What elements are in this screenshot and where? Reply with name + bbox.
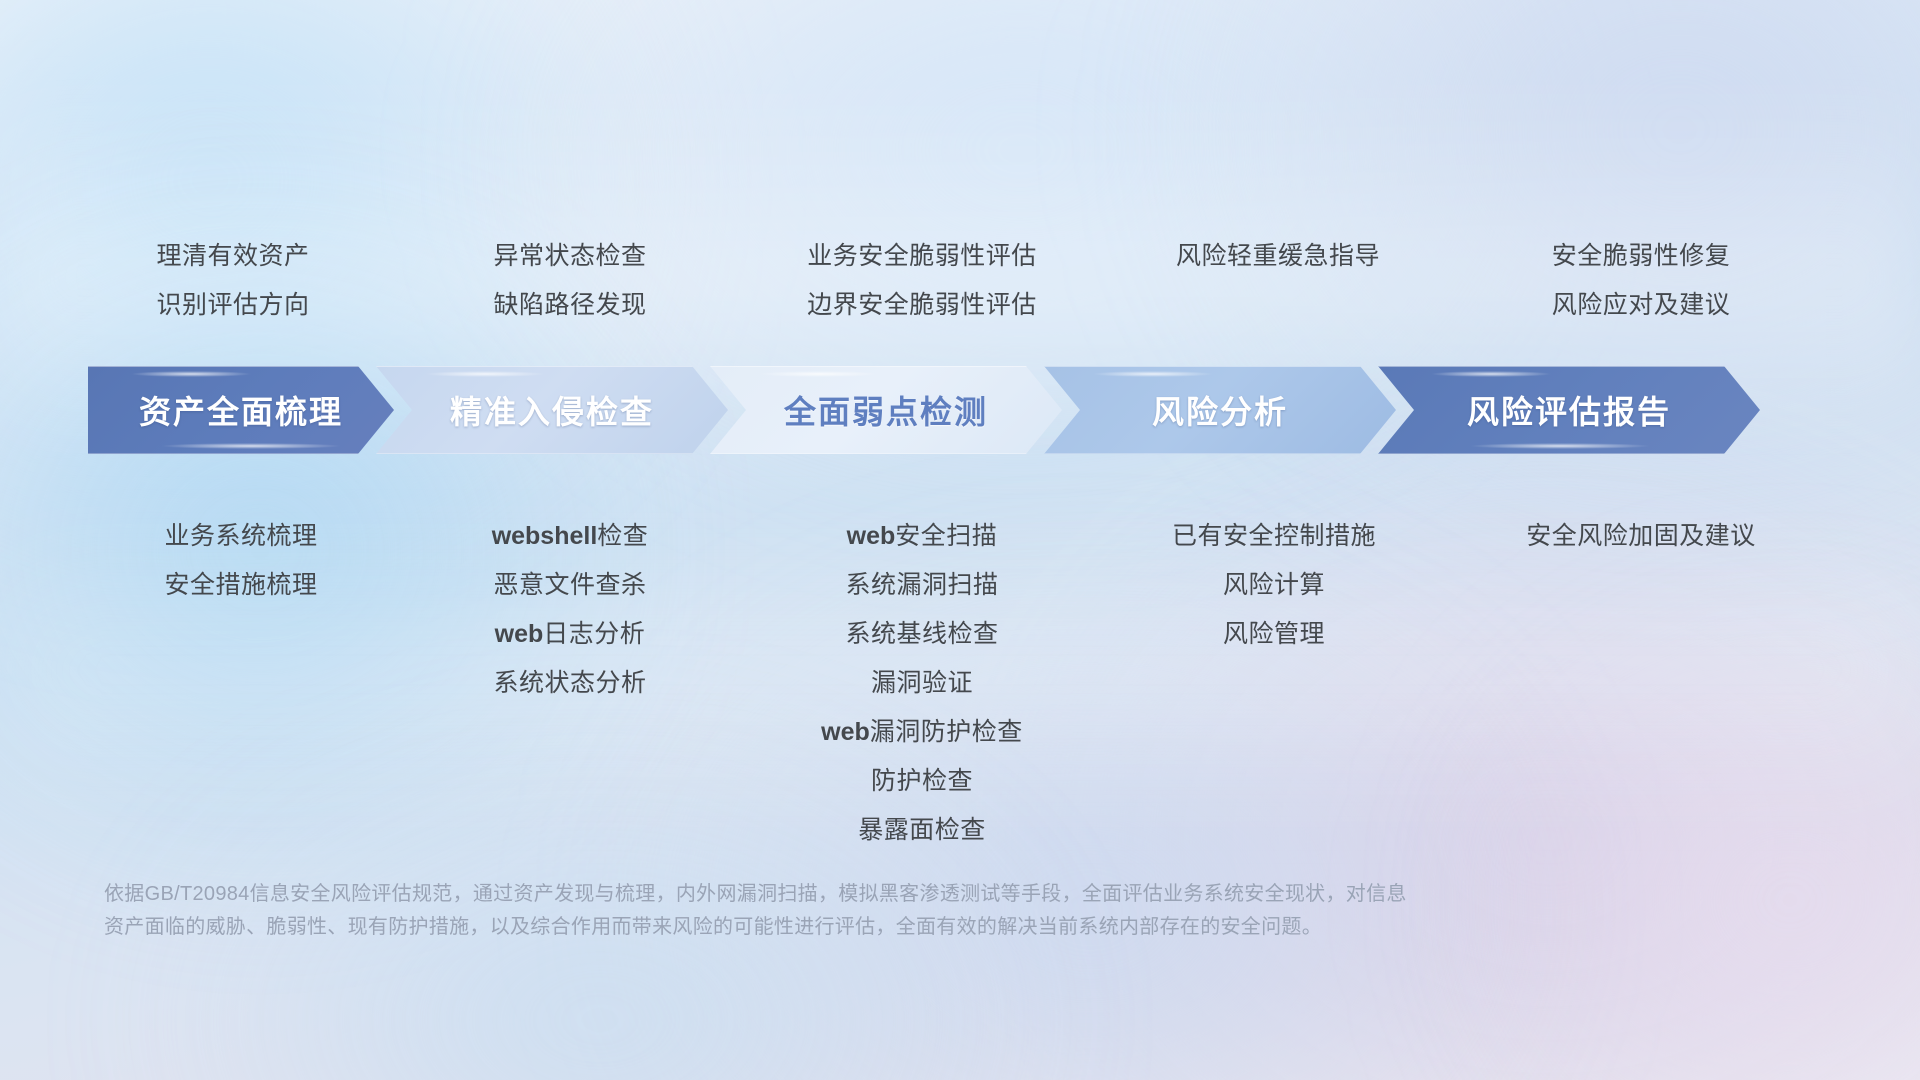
activity-item: 暴露面检查 xyxy=(858,806,986,855)
stage-arrow-band: 资产全面梳理 精准入侵检查 全面弱点检测 风险分析 风险评估报告 xyxy=(88,366,1832,454)
process-diagram: 理清有效资产 识别评估方向 异常状态检查 缺陷路径发现 业务安全脆弱性评估 边界… xyxy=(0,0,1920,1080)
outcome-item: 理清有效资产 xyxy=(156,232,309,281)
activity-item: web漏洞防护检查 xyxy=(821,708,1023,757)
outcome-item: 安全脆弱性修复 xyxy=(1552,232,1731,281)
outcome-item: 边界安全脆弱性评估 xyxy=(807,281,1037,330)
outcomes-column-2: 异常状态检查 缺陷路径发现 xyxy=(394,232,746,330)
activity-item: 系统基线检查 xyxy=(845,610,998,659)
stage-arrow-5[interactable]: 风险评估报告 xyxy=(1378,366,1760,454)
stage-arrow-2[interactable]: 精准入侵检查 xyxy=(376,366,728,454)
activities-column-3: web安全扫描 系统漏洞扫描 系统基线检查 漏洞验证 web漏洞防护检查 防护检… xyxy=(746,512,1098,855)
activity-item: 安全风险加固及建议 xyxy=(1526,512,1756,561)
activity-item: 风险管理 xyxy=(1223,610,1325,659)
activity-item: web安全扫描 xyxy=(847,512,998,561)
sparkle-decoration xyxy=(161,443,341,449)
outcome-item: 风险轻重缓急指导 xyxy=(1176,232,1380,281)
stage-arrow-1[interactable]: 资产全面梳理 xyxy=(88,366,394,454)
outcomes-column-5: 安全脆弱性修复 风险应对及建议 xyxy=(1450,232,1832,330)
activity-item: 风险计算 xyxy=(1223,561,1325,610)
footer-description: 依据GB/T20984信息安全风险评估规范，通过资产发现与梳理，内外网漏洞扫描，… xyxy=(104,878,1624,944)
outcome-item: 业务安全脆弱性评估 xyxy=(807,232,1037,281)
activity-item: 业务系统梳理 xyxy=(164,512,317,561)
sparkle-decoration xyxy=(131,371,251,377)
outcomes-column-3: 业务安全脆弱性评估 边界安全脆弱性评估 xyxy=(746,232,1098,330)
activity-item: webshell检查 xyxy=(492,512,649,561)
activities-column-2: webshell检查 恶意文件查杀 web日志分析 系统状态分析 xyxy=(394,512,746,855)
activity-item: 恶意文件查杀 xyxy=(493,561,646,610)
sparkle-decoration xyxy=(759,371,879,377)
stage-arrow-label: 风险分析 xyxy=(1152,387,1288,433)
stage-activities-row: 业务系统梳理 安全措施梳理 webshell检查 恶意文件查杀 web日志分析 … xyxy=(88,512,1832,855)
activity-item: 防护检查 xyxy=(871,757,973,806)
sparkle-decoration xyxy=(1470,443,1650,449)
activity-item: 安全措施梳理 xyxy=(164,561,317,610)
stage-arrow-label: 风险评估报告 xyxy=(1467,387,1671,433)
outcome-item: 异常状态检查 xyxy=(493,232,646,281)
sparkle-decoration xyxy=(425,371,545,377)
stage-outcomes-row: 理清有效资产 识别评估方向 异常状态检查 缺陷路径发现 业务安全脆弱性评估 边界… xyxy=(88,232,1832,330)
outcomes-column-1: 理清有效资产 识别评估方向 xyxy=(80,232,386,330)
stage-arrow-label: 全面弱点检测 xyxy=(784,387,988,433)
activity-item: 系统状态分析 xyxy=(493,659,646,708)
footer-line-2: 资产面临的威胁、脆弱性、现有防护措施，以及综合作用而带来风险的可能性进行评估，全… xyxy=(104,911,1624,944)
outcome-item: 风险应对及建议 xyxy=(1552,281,1731,330)
stage-arrow-4[interactable]: 风险分析 xyxy=(1044,366,1396,454)
activities-column-4: 已有安全控制措施 风险计算 风险管理 xyxy=(1098,512,1450,855)
stage-arrow-label: 精准入侵检查 xyxy=(450,387,654,433)
activities-column-1: 业务系统梳理 安全措施梳理 xyxy=(88,512,394,855)
sparkle-decoration xyxy=(1093,371,1213,377)
outcome-item: 识别评估方向 xyxy=(156,281,309,330)
activity-item: 系统漏洞扫描 xyxy=(845,561,998,610)
activity-item: web日志分析 xyxy=(495,610,646,659)
stage-arrow-3[interactable]: 全面弱点检测 xyxy=(710,366,1062,454)
outcome-item: 缺陷路径发现 xyxy=(493,281,646,330)
activities-column-5: 安全风险加固及建议 xyxy=(1450,512,1832,855)
outcomes-column-4: 风险轻重缓急指导 xyxy=(1102,232,1454,330)
activity-item: 漏洞验证 xyxy=(871,659,973,708)
activity-item: 已有安全控制措施 xyxy=(1172,512,1376,561)
sparkle-decoration xyxy=(1431,371,1551,377)
stage-arrow-label: 资产全面梳理 xyxy=(139,387,343,433)
footer-line-1: 依据GB/T20984信息安全风险评估规范，通过资产发现与梳理，内外网漏洞扫描，… xyxy=(104,878,1624,911)
